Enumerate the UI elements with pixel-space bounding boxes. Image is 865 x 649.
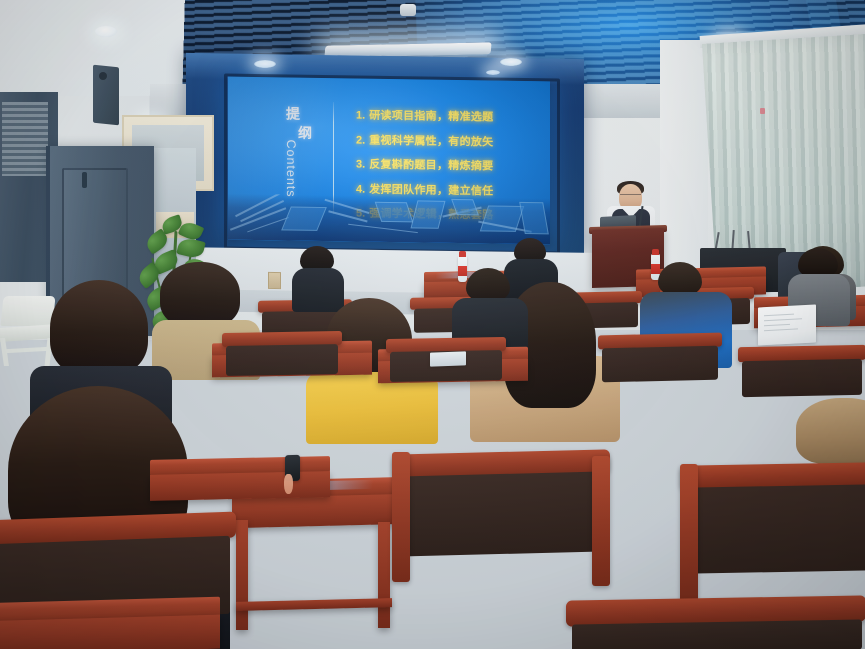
handout-document — [758, 304, 816, 345]
wall-socket-icon — [268, 272, 281, 289]
speaker-driver-icon — [99, 72, 107, 80]
desk-shelf — [236, 598, 392, 611]
bottle-cap — [652, 249, 659, 255]
bottle-cap — [459, 251, 466, 257]
projection-screen: 提 纲 Contents 1. 研读项目指南，精准选题 2. 重视科学属性，有的… — [228, 77, 550, 245]
lanyard-tag — [284, 474, 293, 494]
tablet-device[interactable] — [430, 351, 466, 366]
wall-downlight — [486, 70, 500, 75]
chair-arm — [592, 456, 610, 586]
chair-arm — [392, 452, 410, 582]
attendee-hair — [466, 268, 510, 302]
chair-arm — [680, 464, 698, 604]
door-handle-icon[interactable] — [82, 172, 87, 188]
chair-cushion — [742, 359, 862, 397]
cabinet-vent-grill — [2, 102, 48, 176]
ceiling-sensor-icon — [400, 4, 416, 16]
attendee-hair — [50, 280, 148, 376]
presenter-glasses-icon — [620, 194, 641, 199]
chair-cushion — [226, 344, 338, 376]
screen-vignette — [228, 77, 550, 245]
downlight — [95, 26, 117, 37]
wall-downlight — [500, 58, 522, 66]
wall-downlight — [254, 60, 276, 68]
bottle-label — [651, 264, 660, 274]
conference-room-photo: 提 纲 Contents 1. 研读项目指南，精准选题 2. 重视科学属性，有的… — [0, 0, 865, 649]
attendee-hair — [658, 262, 702, 296]
desk-body — [0, 615, 220, 649]
desk-leg — [378, 522, 390, 628]
desk-body — [150, 471, 330, 501]
chair-cushion — [602, 346, 718, 383]
attendee-body — [292, 268, 344, 312]
curtain-marker — [760, 108, 765, 114]
attendee-hair — [796, 398, 865, 464]
attendee-body — [306, 372, 438, 444]
bottle-label — [458, 266, 467, 276]
chair-cushion — [398, 471, 604, 556]
plastic-chair-back — [0, 296, 55, 326]
attendee-hair — [160, 262, 240, 328]
chair-cushion — [572, 619, 862, 649]
chair-cushion — [686, 484, 865, 573]
desk-leg — [236, 520, 248, 630]
